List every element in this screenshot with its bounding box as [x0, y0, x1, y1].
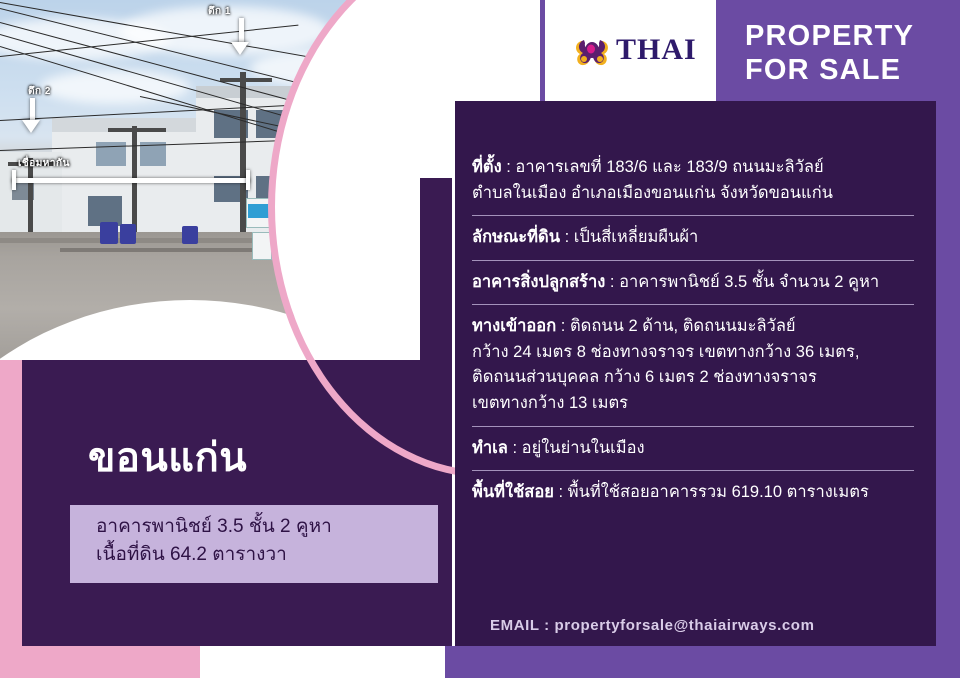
contact-email[interactable]: EMAIL : propertyforsale@thaiairways.com — [490, 617, 815, 634]
bottom-band-purple — [445, 646, 960, 678]
detail-sep-access: : — [556, 317, 570, 335]
details-list: ที่ตั้ง : อาคารเลขที่ 183/6 และ 183/9 ถน… — [472, 155, 927, 506]
detail-key-access: ทางเข้าออก — [472, 317, 556, 335]
detail-value-access-line3: ติดถนนส่วนบุคคล กว้าง 6 เมตร 2 ช่องทางจร… — [472, 368, 817, 386]
bottom-band-pink — [0, 646, 200, 678]
detail-value-building: อาคารพานิชย์ 3.5 ชั้น จำนวน 2 คูหา — [619, 273, 879, 291]
detail-separator-1 — [472, 215, 914, 216]
detail-row-location: ที่ตั้ง : อาคารเลขที่ 183/6 และ 183/9 ถน… — [472, 155, 927, 206]
left-summary-line1: อาคารพานิชย์ 3.5 ชั้น 2 คูหา — [96, 513, 438, 541]
left-summary-box: อาคารพานิชย์ 3.5 ชั้น 2 คูหา เนื้อที่ดิน… — [70, 505, 438, 583]
bottom-band-white — [200, 646, 445, 678]
detail-value-access-line2: กว้าง 24 เมตร 8 ช่องทางจราจร เขตทางกว้าง… — [472, 343, 859, 361]
detail-sep-locale: : — [508, 439, 522, 457]
detail-row-access: ทางเข้าออก : ติดถนน 2 ด้าน, ติดถนนมะลิวั… — [472, 314, 927, 416]
detail-key-landshape: ลักษณะที่ดิน — [472, 228, 560, 246]
detail-separator-5 — [472, 470, 914, 471]
detail-value-landshape: เป็นสี่เหลี่ยมผืนผ้า — [574, 228, 699, 246]
left-summary-line2: เนื้อที่ดิน 64.2 ตารางวา — [96, 541, 438, 569]
annotation-building1-arrow-stem — [239, 18, 244, 44]
property-for-sale-poster: IN ตึก 1 ตึก 2 เชื่อมหากัน ขอนแก่น อาคาร… — [0, 0, 960, 678]
detail-separator-2 — [472, 260, 914, 261]
header-title-line1: PROPERTY — [745, 20, 914, 54]
thai-orchid-logo-icon — [574, 35, 610, 69]
detail-separator-3 — [472, 304, 914, 305]
detail-key-location: ที่ตั้ง — [472, 158, 502, 176]
annotation-building2-arrow-stem — [30, 98, 35, 122]
annotation-building2-arrow-icon — [22, 120, 40, 133]
detail-separator-4 — [472, 426, 914, 427]
annotation-building1-label: ตึก 1 — [208, 4, 231, 19]
detail-key-building: อาคารสิ่งปลูกสร้าง — [472, 273, 605, 291]
detail-value-location-line1: อาคารเลขที่ 183/6 และ 183/9 ถนนมะลิวัลย์ — [515, 158, 823, 176]
annotation-building1-arrow-icon — [231, 42, 249, 55]
thai-logo: THAI — [574, 31, 694, 73]
header-title-line2: FOR SALE — [745, 54, 914, 88]
detail-value-locale: อยู่ในย่านในเมือง — [522, 439, 645, 457]
detail-sep-usablearea: : — [554, 483, 568, 501]
detail-value-access-line1: ติดถนน 2 ด้าน, ติดถนนมะลิวัลย์ — [570, 317, 796, 335]
detail-value-location-line2: ตำบลในเมือง อำเภอเมืองขอนแก่น จังหวัดขอน… — [472, 184, 833, 202]
annotation-connection-span — [12, 178, 250, 183]
detail-sep-building: : — [605, 273, 619, 291]
detail-row-usablearea: พื้นที่ใช้สอย : พื้นที่ใช้สอยอาคารรวม 61… — [472, 480, 927, 506]
annotation-connection-label: เชื่อมหากัน — [18, 156, 70, 171]
detail-key-locale: ทำเล — [472, 439, 508, 457]
annotation-building2-label: ตึก 2 — [28, 84, 51, 99]
thai-wordmark: THAI — [616, 33, 697, 67]
detail-value-usablearea: พื้นที่ใช้สอยอาคารรวม 619.10 ตารางเมตร — [568, 483, 869, 501]
page-title-city: ขอนแก่น — [88, 438, 247, 478]
email-label: EMAIL : — [490, 617, 555, 634]
annotation-connection-cap-left — [12, 170, 16, 190]
detail-row-landshape: ลักษณะที่ดิน : เป็นสี่เหลี่ยมผืนผ้า — [472, 225, 927, 251]
detail-key-usablearea: พื้นที่ใช้สอย — [472, 483, 554, 501]
detail-sep-location: : — [502, 158, 516, 176]
detail-row-locale: ทำเล : อยู่ในย่านในเมือง — [472, 436, 927, 462]
detail-sep-landshape: : — [560, 228, 574, 246]
email-address: propertyforsale@thaiairways.com — [555, 617, 815, 634]
detail-row-building: อาคารสิ่งปลูกสร้าง : อาคารพานิชย์ 3.5 ชั… — [472, 270, 927, 296]
annotation-connection-cap-right — [246, 170, 250, 190]
poster-header-title: PROPERTY FOR SALE — [745, 20, 914, 87]
detail-value-access-line4: เขตทางกว้าง 13 เมตร — [472, 394, 628, 412]
